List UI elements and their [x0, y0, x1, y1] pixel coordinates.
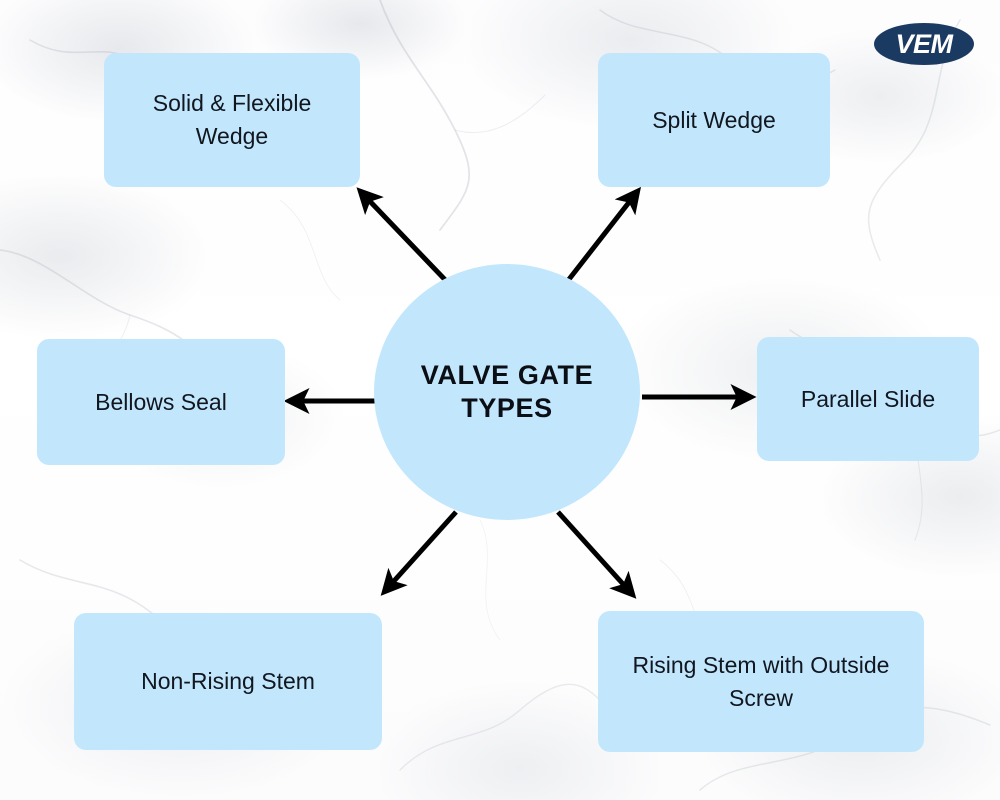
arrow-to-rising-stem-outside-screw [558, 512, 632, 594]
logo-text: VEM [895, 29, 953, 59]
arrow-to-non-rising-stem [385, 512, 456, 591]
node-parallel-slide[interactable]: Parallel Slide [757, 337, 979, 461]
node-solid-flexible-wedge[interactable]: Solid & Flexible Wedge [104, 53, 360, 187]
node-bellows-seal[interactable]: Bellows Seal [37, 339, 285, 465]
node-rising-stem-outside-screw[interactable]: Rising Stem with Outside Screw [598, 611, 924, 752]
arrow-to-split-wedge [563, 192, 637, 287]
center-node-valve-gate-types[interactable]: VALVE GATE TYPES [374, 264, 640, 520]
node-label: Parallel Slide [801, 383, 935, 416]
arrow-to-solid-flexible-wedge [361, 192, 452, 287]
center-node-label: VALVE GATE TYPES [374, 359, 640, 425]
node-label: Rising Stem with Outside Screw [612, 649, 910, 714]
node-label: Non-Rising Stem [141, 665, 315, 698]
node-label: Split Wedge [652, 104, 776, 137]
node-split-wedge[interactable]: Split Wedge [598, 53, 830, 187]
diagram-canvas: VALVE GATE TYPES Solid & Flexible Wedge … [0, 0, 1000, 800]
node-non-rising-stem[interactable]: Non-Rising Stem [74, 613, 382, 750]
vem-logo[interactable]: VEM [872, 20, 976, 68]
node-label: Bellows Seal [95, 386, 227, 419]
node-label: Solid & Flexible Wedge [118, 87, 346, 152]
